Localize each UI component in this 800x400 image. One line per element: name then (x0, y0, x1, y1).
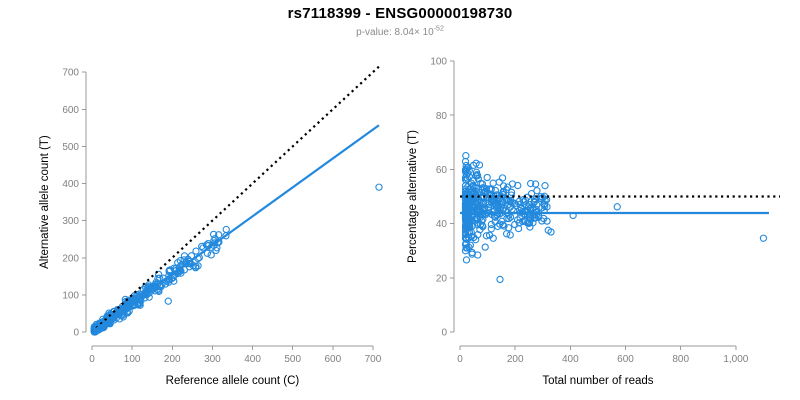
scatter-plot-right: 02040608010002004006008001,000Total numb… (400, 40, 800, 400)
y-axis: 0100200300400500600700 (62, 68, 86, 339)
y-axis-title: Percentage alternative (T) (407, 130, 419, 263)
x-axis-title: Total number of reads (542, 375, 653, 387)
y-tick-label: 500 (62, 142, 79, 153)
x-axis: 0100200300400500600700 (89, 346, 382, 365)
x-tick-label: 800 (672, 354, 689, 365)
x-axis-title: Reference allele count (C) (166, 375, 300, 387)
x-tick-label: 400 (562, 354, 579, 365)
x-tick-label: 300 (204, 354, 221, 365)
pvalue-exponent: -52 (434, 26, 444, 33)
x-tick-label: 200 (164, 354, 181, 365)
y-axis: 020406080100 (430, 57, 454, 339)
identity-reference-line (92, 67, 379, 332)
regression-fit-line (92, 125, 379, 332)
x-tick-label: 1,000 (723, 354, 748, 365)
page-title: rs7118399 - ENSG00000198730 (0, 5, 800, 22)
y-tick-label: 200 (62, 253, 79, 264)
y-tick-label: 0 (441, 328, 447, 339)
y-tick-label: 20 (436, 273, 448, 284)
scatter-panel-percentage: 02040608010002004006008001,000Total numb… (400, 40, 800, 400)
x-axis: 02004006008001,000 (457, 346, 749, 365)
data-points-group (91, 184, 382, 335)
y-tick-label: 400 (62, 179, 79, 190)
pvalue-prefix: p-value: 8.04 (356, 27, 414, 38)
x-tick-label: 200 (507, 354, 524, 365)
figure-root: rs7118399 - ENSG00000198730 p-value: 8.0… (0, 0, 800, 400)
y-axis-title: Alternative allele count (T) (39, 135, 51, 269)
x-tick-label: 700 (365, 354, 382, 365)
y-tick-label: 100 (62, 290, 79, 301)
scatter-plot-left: 0100200300400500600700010020030040050060… (0, 40, 400, 400)
data-points-group (462, 153, 766, 283)
x-tick-label: 600 (617, 354, 634, 365)
y-tick-label: 300 (62, 216, 79, 227)
y-tick-label: 80 (436, 111, 448, 122)
y-tick-label: 600 (62, 105, 79, 116)
y-tick-label: 700 (62, 68, 79, 79)
y-tick-label: 60 (436, 165, 448, 176)
y-tick-label: 40 (436, 219, 448, 230)
x-tick-label: 600 (324, 354, 341, 365)
x-tick-label: 0 (89, 354, 95, 365)
pvalue-times: × 10 (414, 27, 434, 38)
x-tick-label: 0 (457, 354, 463, 365)
x-tick-label: 500 (284, 354, 301, 365)
y-tick-label: 100 (430, 57, 447, 68)
x-tick-label: 400 (244, 354, 261, 365)
scatter-panel-allele-counts: 0100200300400500600700010020030040050060… (0, 40, 400, 400)
y-tick-label: 0 (73, 328, 79, 339)
pvalue-subtitle: p-value: 8.04× 10-52 (0, 27, 800, 38)
x-tick-label: 100 (124, 354, 141, 365)
